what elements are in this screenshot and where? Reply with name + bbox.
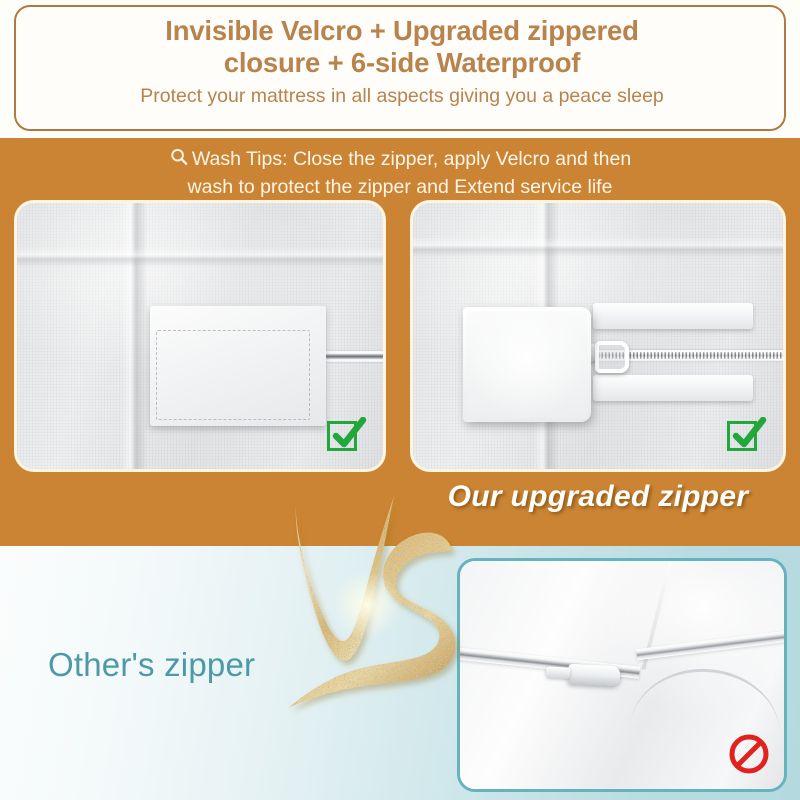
wash-tips-line-2: wash to protect the zipper and Extend se…	[0, 174, 800, 200]
hidden-zipper-strip	[323, 351, 386, 362]
label-others-zipper: Other's zipper	[48, 646, 255, 684]
photo-others-zipper	[457, 558, 787, 792]
velcro-flap-closed	[150, 306, 326, 426]
header-section: Invisible Velcro + Upgraded zippered clo…	[0, 0, 800, 138]
zipper-pull-tab	[595, 341, 629, 373]
green-check-icon	[727, 417, 765, 455]
title-block: Invisible Velcro + Upgraded zippered clo…	[16, 15, 788, 109]
caption-our-upgraded-zipper: Our upgraded zipper	[410, 480, 786, 514]
velcro-strip-lower	[593, 375, 753, 401]
headline-subtitle: Protect your mattress in all aspects giv…	[16, 83, 788, 109]
fabric-horizontal-fold	[413, 237, 783, 257]
photo-zipper-open	[410, 200, 786, 472]
product-infographic: Invisible Velcro + Upgraded zippered clo…	[0, 0, 800, 800]
headline-line-2: closure + 6-side Waterproof	[16, 47, 788, 79]
wash-tips-line-1: Wash Tips: Close the zipper, apply Velcr…	[192, 148, 631, 170]
wash-tips-text: Wash Tips: Close the zipper, apply Velcr…	[0, 146, 800, 200]
photo-velcro-closed	[14, 200, 386, 472]
wash-tips-band: Wash Tips: Close the zipper, apply Velcr…	[0, 138, 800, 546]
check-mark-glyph	[729, 417, 767, 455]
fabric-vertical-fold	[121, 203, 147, 469]
green-check-icon	[327, 417, 365, 455]
fabric-horizontal-fold	[17, 247, 383, 267]
headline-line-1: Invisible Velcro + Upgraded zippered	[16, 15, 788, 47]
header-frame: Invisible Velcro + Upgraded zippered clo…	[14, 5, 786, 131]
velcro-strip-upper	[593, 303, 753, 329]
prohibition-glyph	[728, 733, 770, 775]
wash-tips-line-1-row: Wash Tips: Close the zipper, apply Velcr…	[0, 146, 800, 174]
zipper-slider	[568, 664, 621, 687]
magnifier-icon	[169, 147, 189, 174]
red-prohibition-icon	[728, 733, 770, 775]
check-mark-glyph	[329, 417, 367, 455]
velcro-flap-open	[463, 307, 591, 422]
